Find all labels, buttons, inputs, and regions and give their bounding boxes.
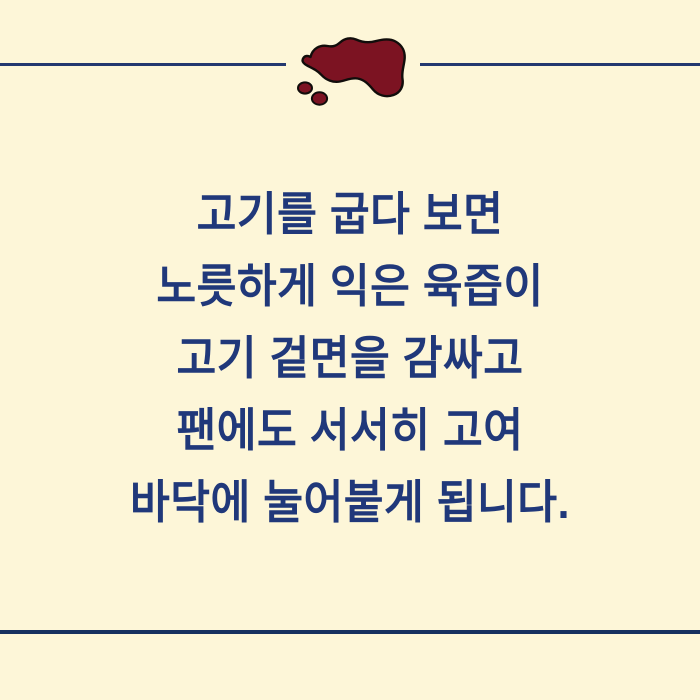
headline-line-3: 고기 겉면을 감싸고 [21,322,679,394]
sauce-blob-svg [292,32,416,108]
tip-card: 고기를 굽다 보면 노릇하게 익은 육즙이 고기 겉면을 감싸고 팬에도 서서히… [0,0,700,700]
headline-line-1: 고기를 굽다 보면 [21,178,679,250]
sauce-blob-icon [292,32,416,108]
headline-block: 고기를 굽다 보면 노릇하게 익은 육즙이 고기 겉면을 감싸고 팬에도 서서히… [0,178,700,538]
top-divider-right [420,63,700,66]
sauce-droplet-small-left [298,82,312,93]
bottom-divider [0,630,700,634]
sauce-droplet-small-right [312,92,327,104]
sauce-blob-main-shape [303,38,405,96]
top-divider-left [0,63,286,66]
headline-line-5: 바닥에 눌어붙게 됩니다. [21,466,679,538]
headline-line-2: 노릇하게 익은 육즙이 [21,250,679,322]
headline-line-4: 팬에도 서서히 고여 [21,394,679,466]
